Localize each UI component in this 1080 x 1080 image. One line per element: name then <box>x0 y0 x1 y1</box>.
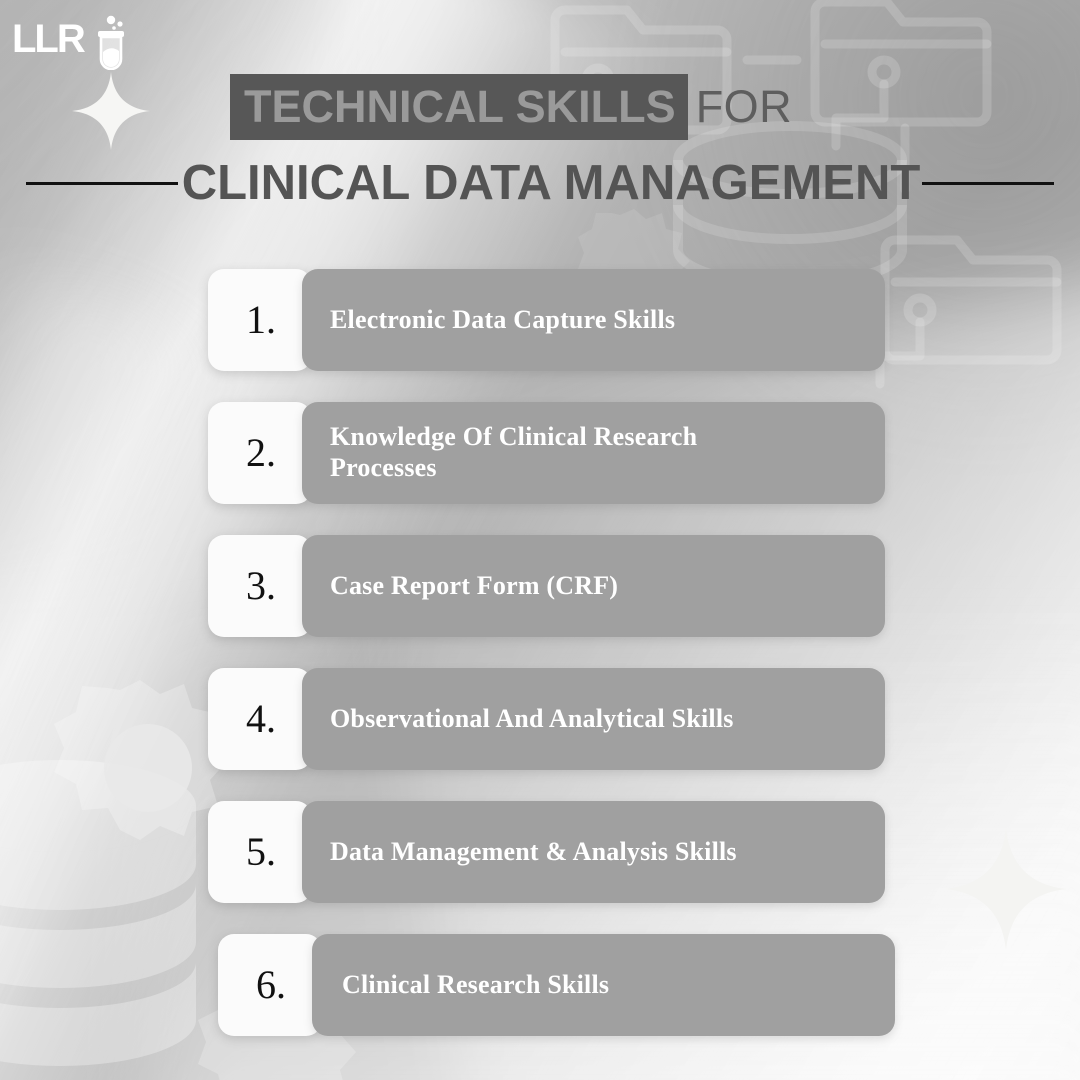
list-item-number-card: 4. <box>208 668 312 770</box>
list-item-label: Clinical Research Skills <box>312 970 629 1001</box>
list-item-number: 4. <box>244 699 276 739</box>
list-item-label: Knowledge Of Clinical Research Processes <box>302 422 780 483</box>
skills-list: 1. Electronic Data Capture Skills 2. Kno… <box>0 269 1080 1067</box>
list-item-label-card: Observational And Analytical Skills <box>302 668 885 770</box>
list-item-number-card: 5. <box>208 801 312 903</box>
list-item-number-card: 1. <box>208 269 312 371</box>
page-title: TECHNICAL SKILLS FOR CLINICAL DATA MANAG… <box>0 74 1080 234</box>
list-item[interactable]: 5. Data Management & Analysis Skills <box>0 801 1080 903</box>
test-tube-icon <box>86 14 128 70</box>
list-item-label: Data Management & Analysis Skills <box>302 837 757 868</box>
list-item-label-card: Case Report Form (CRF) <box>302 535 885 637</box>
brand-logo-text: LLR <box>12 19 84 59</box>
list-item-number: 1. <box>244 300 276 340</box>
list-item-label: Observational And Analytical Skills <box>302 704 754 735</box>
list-item[interactable]: 3. Case Report Form (CRF) <box>0 535 1080 637</box>
brand-logo[interactable]: LLR <box>10 10 130 66</box>
title-rule-right <box>922 182 1054 185</box>
list-item[interactable]: 1. Electronic Data Capture Skills <box>0 269 1080 371</box>
list-item-number-card: 3. <box>208 535 312 637</box>
title-suffix: FOR <box>688 74 793 140</box>
title-line-two: CLINICAL DATA MANAGEMENT <box>0 154 1080 212</box>
list-item[interactable]: 2. Knowledge Of Clinical Research Proces… <box>0 402 1080 504</box>
list-item-number: 5. <box>244 832 276 872</box>
list-item-label-card: Electronic Data Capture Skills <box>302 269 885 371</box>
list-item-label-card: Knowledge Of Clinical Research Processes <box>302 402 885 504</box>
title-subtitle: CLINICAL DATA MANAGEMENT <box>182 154 921 212</box>
list-item-number: 3. <box>244 566 276 606</box>
list-item-label-card: Data Management & Analysis Skills <box>302 801 885 903</box>
list-item[interactable]: 4. Observational And Analytical Skills <box>0 668 1080 770</box>
poster-canvas: LLR TECHNICAL SKILLS FOR CLINICAL DATA M… <box>0 0 1080 1080</box>
list-item-label: Electronic Data Capture Skills <box>302 305 695 336</box>
list-item-number: 2. <box>244 433 276 473</box>
list-item-label-card: Clinical Research Skills <box>312 934 895 1036</box>
title-line-one: TECHNICAL SKILLS FOR <box>230 74 792 140</box>
list-item[interactable]: 6. Clinical Research Skills <box>0 934 1080 1036</box>
list-item-number-card: 6. <box>218 934 322 1036</box>
list-item-number: 6. <box>254 965 286 1005</box>
list-item-number-card: 2. <box>208 402 312 504</box>
list-item-label: Case Report Form (CRF) <box>302 571 638 602</box>
title-highlight: TECHNICAL SKILLS <box>230 74 688 140</box>
title-rule-left <box>26 182 178 185</box>
